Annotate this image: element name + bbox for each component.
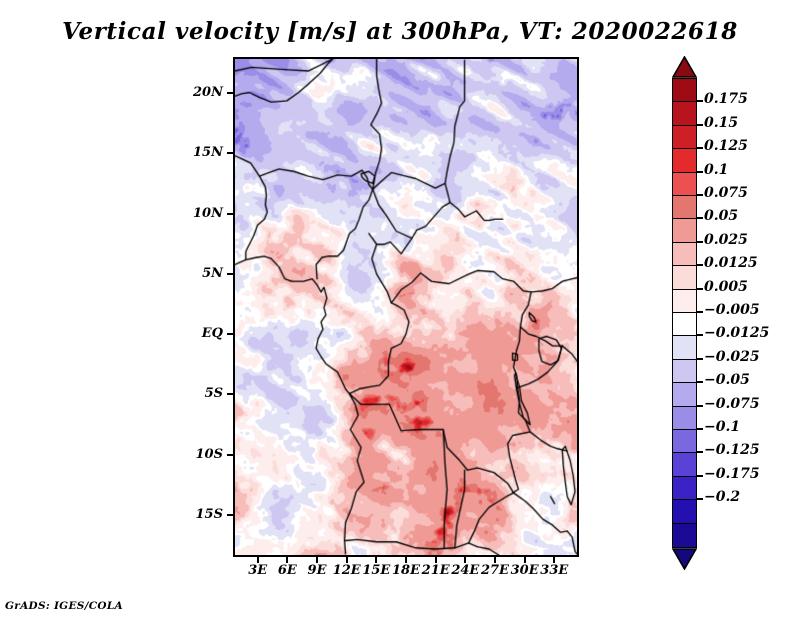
colorbar-tick-label: 0.0125 — [704, 255, 758, 271]
colorbar-extend-bottom-icon — [672, 548, 697, 570]
page-title: Vertical velocity [m/s] at 300hPa, VT: 2… — [0, 18, 800, 45]
y-axis-label: 5N — [178, 266, 223, 281]
colorbar-tick-label: 0.025 — [704, 232, 748, 248]
colorbar-tick-label: −0.1 — [704, 419, 740, 435]
colorbar-segment — [672, 125, 697, 150]
y-axis-tick — [227, 213, 233, 215]
colorbar-tick — [697, 241, 703, 243]
colorbar-segment — [672, 429, 697, 454]
colorbar-tick — [697, 311, 703, 313]
colorbar-segment — [672, 289, 697, 314]
colorbar-tick-label: 0.075 — [704, 185, 748, 201]
y-axis-label: EQ — [178, 326, 223, 341]
grads-credit: GrADS: IGES/COLA — [5, 600, 123, 612]
colorbar-segment — [672, 382, 697, 407]
colorbar-segment — [672, 218, 697, 243]
map-plot-panel — [233, 57, 579, 557]
colorbar-tick — [697, 498, 703, 500]
colorbar-segment — [672, 312, 697, 337]
colorbar-tick — [697, 428, 703, 430]
colorbar-tick-label: −0.2 — [704, 489, 740, 505]
colorbar-tick-label: −0.0125 — [704, 325, 769, 341]
colorbar-segment — [672, 335, 697, 360]
colorbar-tick-label: 0.175 — [704, 91, 748, 107]
y-axis-label: 20N — [178, 85, 223, 100]
colorbar-tick-label: −0.075 — [704, 396, 760, 412]
y-axis-tick — [227, 454, 233, 456]
x-axis-label: 33E — [532, 563, 576, 578]
colorbar-segment — [672, 476, 697, 501]
colorbar-tick — [697, 288, 703, 290]
colorbar-tick — [697, 217, 703, 219]
colorbar-tick — [697, 451, 703, 453]
y-axis-tick — [227, 393, 233, 395]
y-axis-label: 15N — [178, 145, 223, 160]
colorbar-tick — [697, 147, 703, 149]
colorbar-extend-top-icon — [672, 56, 697, 78]
y-axis-tick — [227, 333, 233, 335]
colorbar-tick-label: −0.05 — [704, 372, 750, 388]
colorbar-segment — [672, 359, 697, 384]
colorbar-tick — [697, 334, 703, 336]
colorbar-tick — [697, 475, 703, 477]
colorbar-segment — [672, 172, 697, 197]
y-axis-label: 10S — [178, 447, 223, 462]
y-axis-tick — [227, 273, 233, 275]
colorbar-tick — [697, 381, 703, 383]
colorbar-tick — [697, 264, 703, 266]
colorbar-segment — [672, 78, 697, 103]
y-axis-tick — [227, 514, 233, 516]
colorbar-tick — [697, 194, 703, 196]
colorbar-tick-label: −0.005 — [704, 302, 760, 318]
colorbar-tick-label: −0.125 — [704, 442, 760, 458]
colorbar-tick-label: −0.025 — [704, 349, 760, 365]
y-axis-label: 5S — [178, 386, 223, 401]
colorbar-tick — [697, 405, 703, 407]
colorbar-tick-label: 0.05 — [704, 208, 738, 224]
colorbar-segment — [672, 101, 697, 126]
colorbar-tick-label: 0.125 — [704, 138, 748, 154]
y-axis-label: 10N — [178, 206, 223, 221]
colorbar-segment — [672, 406, 697, 431]
colorbar — [672, 78, 697, 546]
colorbar-segment — [672, 242, 697, 267]
y-axis-label: 15S — [178, 507, 223, 522]
colorbar-segment — [672, 148, 697, 173]
colorbar-segment — [672, 265, 697, 290]
colorbar-tick — [697, 100, 703, 102]
colorbar-tick — [697, 124, 703, 126]
colorbar-segment — [672, 452, 697, 477]
colorbar-tick-label: 0.15 — [704, 115, 738, 131]
y-axis-tick — [227, 92, 233, 94]
colorbar-segment — [672, 523, 697, 548]
colorbar-tick-label: −0.175 — [704, 466, 760, 482]
colorbar-segment — [672, 499, 697, 524]
colorbar-tick-label: 0.1 — [704, 162, 728, 178]
colorbar-tick — [697, 171, 703, 173]
y-axis-tick — [227, 152, 233, 154]
vertical-velocity-field — [235, 59, 577, 555]
colorbar-segment — [672, 195, 697, 220]
colorbar-tick-label: 0.005 — [704, 279, 748, 295]
colorbar-tick — [697, 358, 703, 360]
